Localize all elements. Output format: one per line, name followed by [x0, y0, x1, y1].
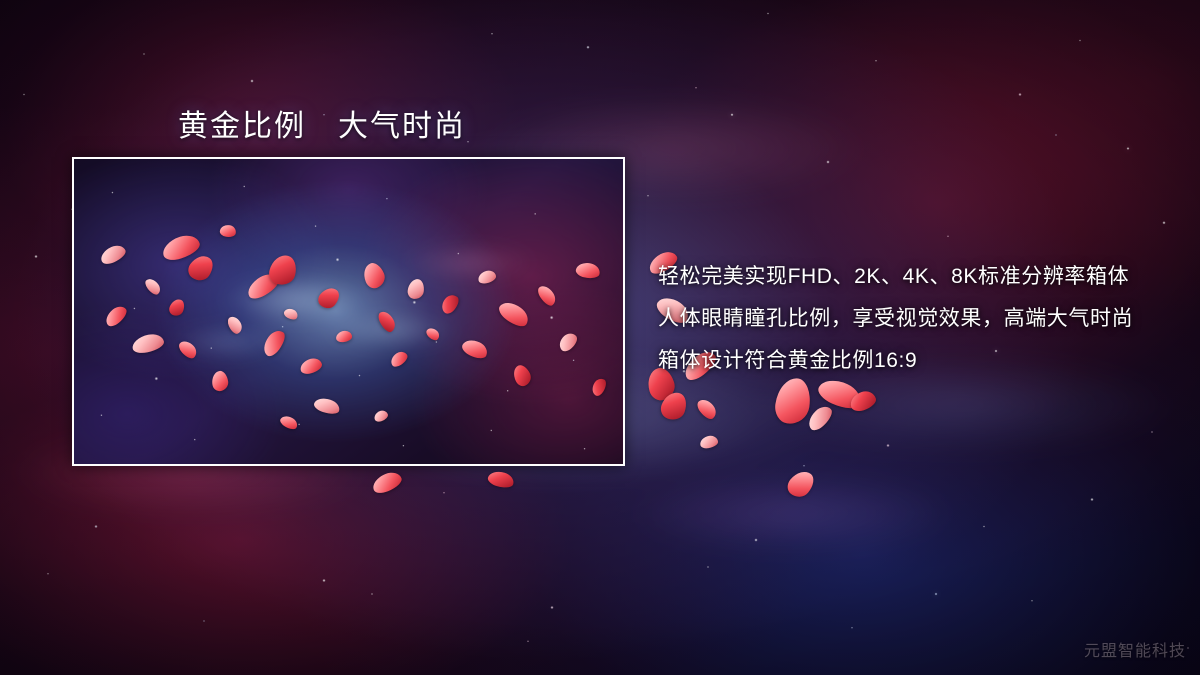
watermark-label: 元盟智能科技 [1084, 637, 1186, 661]
feature-line-3: 箱体设计符合黄金比例16:9 [658, 340, 1158, 382]
page-title: 黄金比例 大气时尚 [178, 101, 466, 145]
preview-starfield [74, 159, 623, 464]
golden-ratio-preview-frame [72, 157, 625, 466]
feature-copy-block: 轻松完美实现FHD、2K、4K、8K标准分辨率箱体 人体眼睛瞳孔比例，享受视觉效… [658, 256, 1158, 382]
feature-line-1: 轻松完美实现FHD、2K、4K、8K标准分辨率箱体 [658, 256, 1158, 298]
feature-line-2: 人体眼睛瞳孔比例，享受视觉效果，高端大气时尚 [658, 298, 1158, 340]
slide-canvas: 黄金比例 大气时尚 [0, 0, 1200, 675]
preview-image [74, 159, 623, 464]
